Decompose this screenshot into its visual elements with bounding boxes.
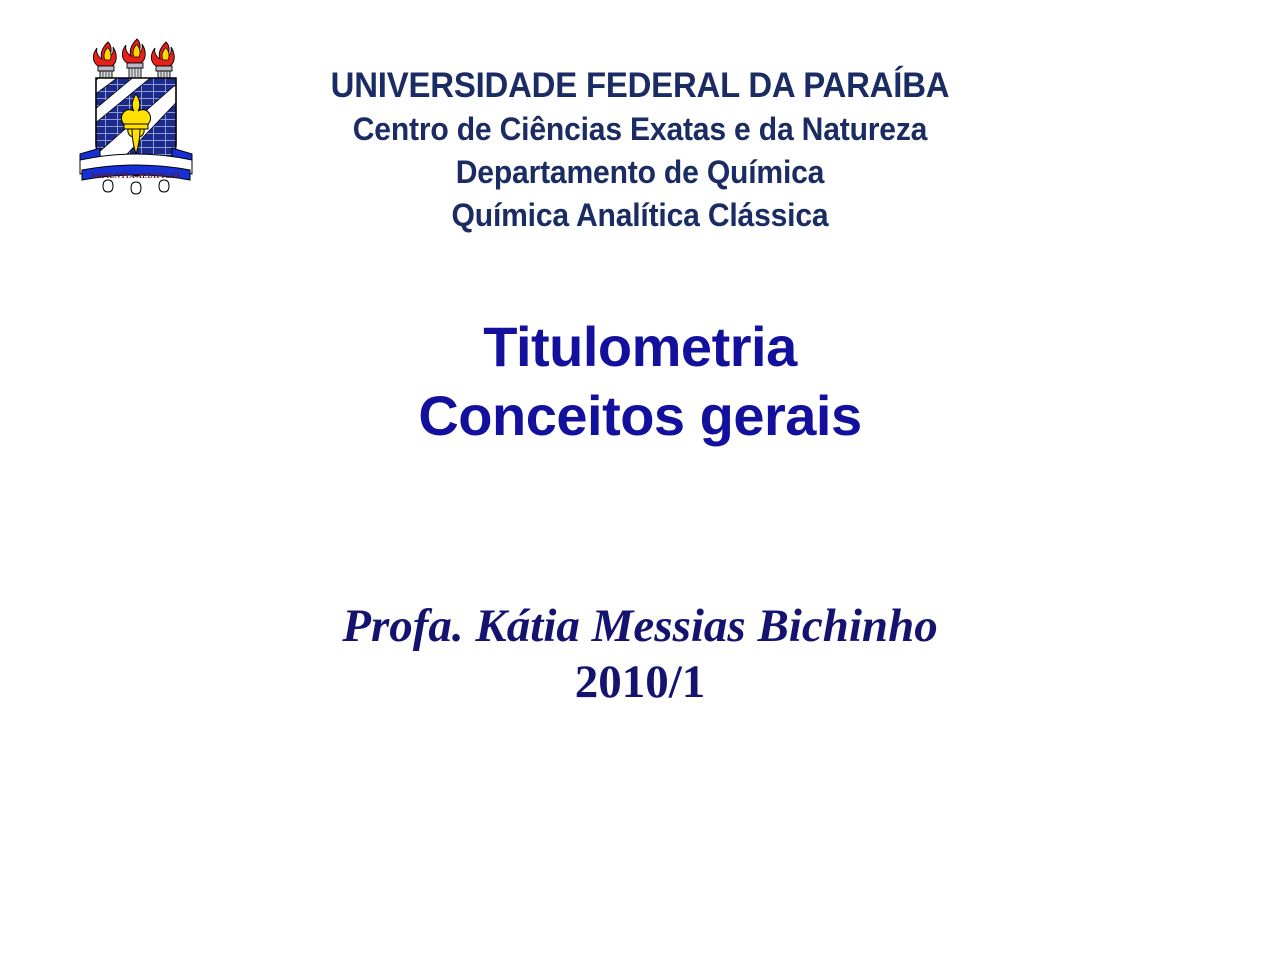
academic-term: 2010/1 [0,654,1280,710]
course-name: Química Analítica Clássica [226,194,1053,237]
center-name: Centro de Ciências Exatas e da Natureza [226,108,1053,151]
presentation-slide: SAPIENTIA AEDIFICAT UNIVERSIDADE FEDERAL… [0,0,1280,960]
ufpb-coat-of-arms-logo: SAPIENTIA AEDIFICAT [76,36,196,196]
title-line-2: Conceitos gerais [0,381,1280,450]
university-name: UNIVERSIDADE FEDERAL DA PARAÍBA [226,64,1053,108]
motto-text: SAPIENTIA AEDIFICAT [91,171,181,180]
institution-header: UNIVERSIDADE FEDERAL DA PARAÍBA Centro d… [200,64,1080,237]
torch-icon-center [122,39,145,79]
shield-tassels [103,180,169,194]
author-name: Profa. Kátia Messias Bichinho [0,598,1280,654]
page-title: Titulometria Conceitos gerais [0,312,1280,450]
title-line-1: Titulometria [0,312,1280,381]
author-block: Profa. Kátia Messias Bichinho 2010/1 [0,598,1280,710]
torch-icon-right [151,42,174,80]
torch-icon-left [93,42,116,80]
department-name: Departamento de Química [226,151,1053,194]
